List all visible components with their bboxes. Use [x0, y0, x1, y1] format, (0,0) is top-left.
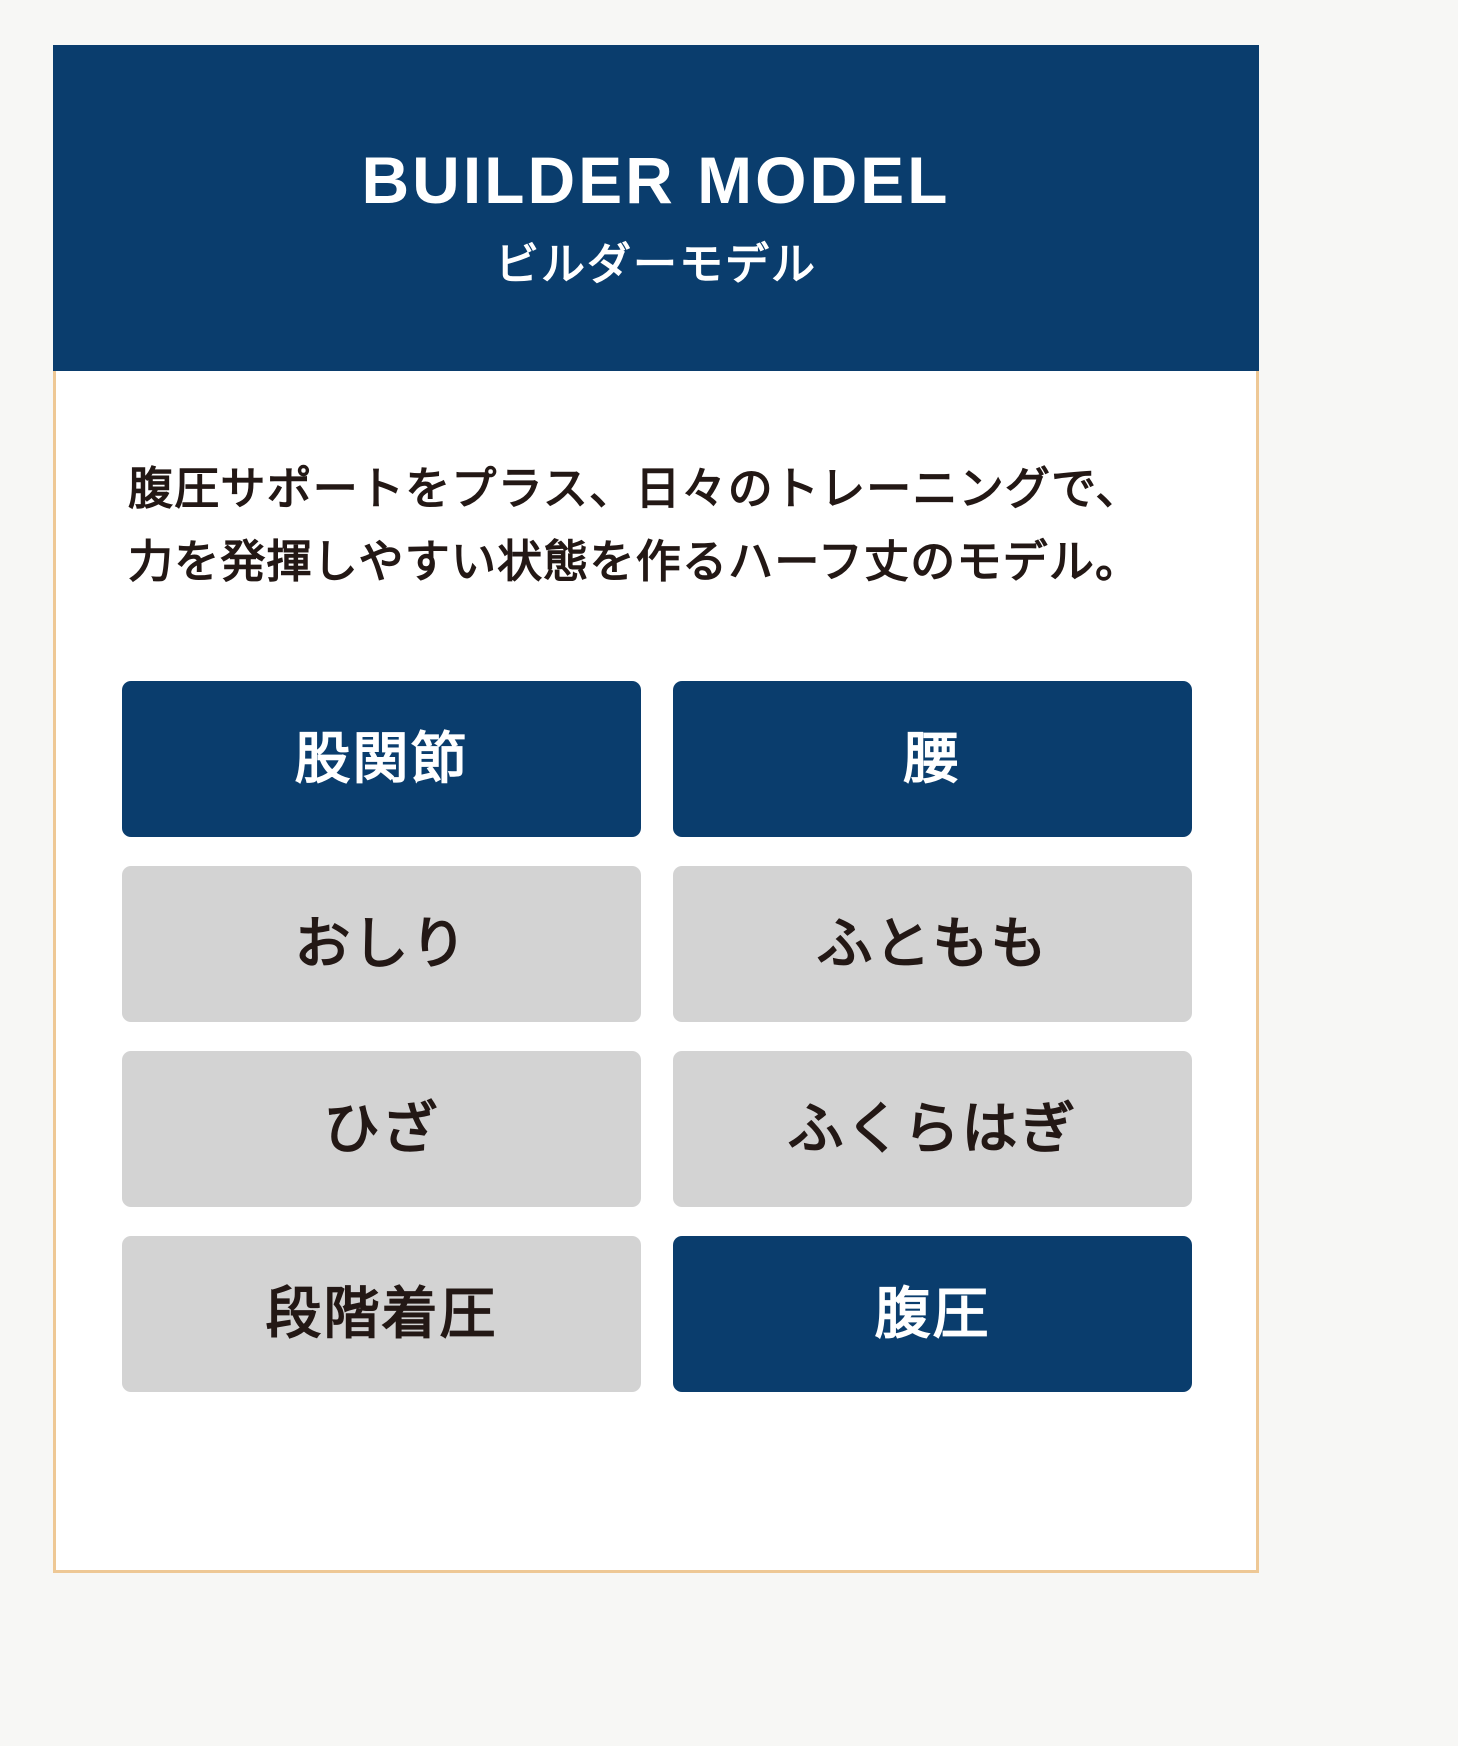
- page-title: BUILDER MODEL: [362, 147, 951, 213]
- tag-thigh[interactable]: ふともも: [673, 866, 1192, 1022]
- tag-graduated-compression[interactable]: 段階着圧: [122, 1236, 641, 1392]
- tag-buttocks[interactable]: おしり: [122, 866, 641, 1022]
- tag-label: ひざ: [324, 1101, 440, 1157]
- card-body: 腹圧サポートをプラス、日々のトレーニングで、 力を発揮しやすい状態を作るハーフ丈…: [56, 453, 1256, 1392]
- tag-label: おしり: [295, 916, 469, 972]
- builder-model-card: BUILDER MODEL ビルダーモデル 腹圧サポートをプラス、日々のトレーニ…: [53, 45, 1259, 1573]
- tag-abdominal-pressure[interactable]: 腹圧: [673, 1236, 1192, 1392]
- tag-lower-back[interactable]: 腰: [673, 681, 1192, 837]
- tag-calf[interactable]: ふくらはぎ: [673, 1051, 1192, 1207]
- tag-label: 段階着圧: [266, 1286, 498, 1342]
- tag-label: ふくらはぎ: [788, 1101, 1078, 1157]
- description-line-2: 力を発揮しやすい状態を作るハーフ丈のモデル。: [128, 526, 1196, 599]
- tag-hip-joint[interactable]: 股関節: [122, 681, 641, 837]
- page-root: BUILDER MODEL ビルダーモデル 腹圧サポートをプラス、日々のトレーニ…: [0, 0, 1458, 1746]
- description-text: 腹圧サポートをプラス、日々のトレーニングで、 力を発揮しやすい状態を作るハーフ丈…: [56, 453, 1256, 599]
- tag-knee[interactable]: ひざ: [122, 1051, 641, 1207]
- card-header: BUILDER MODEL ビルダーモデル: [53, 45, 1259, 371]
- tag-label: 腰: [904, 731, 962, 787]
- feature-tag-grid: 股関節 腰 おしり ふともも ひざ ふくらはぎ 段階: [56, 681, 1256, 1392]
- description-line-1: 腹圧サポートをプラス、日々のトレーニングで、: [128, 453, 1196, 526]
- page-subtitle: ビルダーモデル: [495, 243, 817, 287]
- tag-label: 股関節: [295, 731, 469, 787]
- tag-label: ふともも: [817, 916, 1049, 972]
- tag-label: 腹圧: [875, 1286, 991, 1342]
